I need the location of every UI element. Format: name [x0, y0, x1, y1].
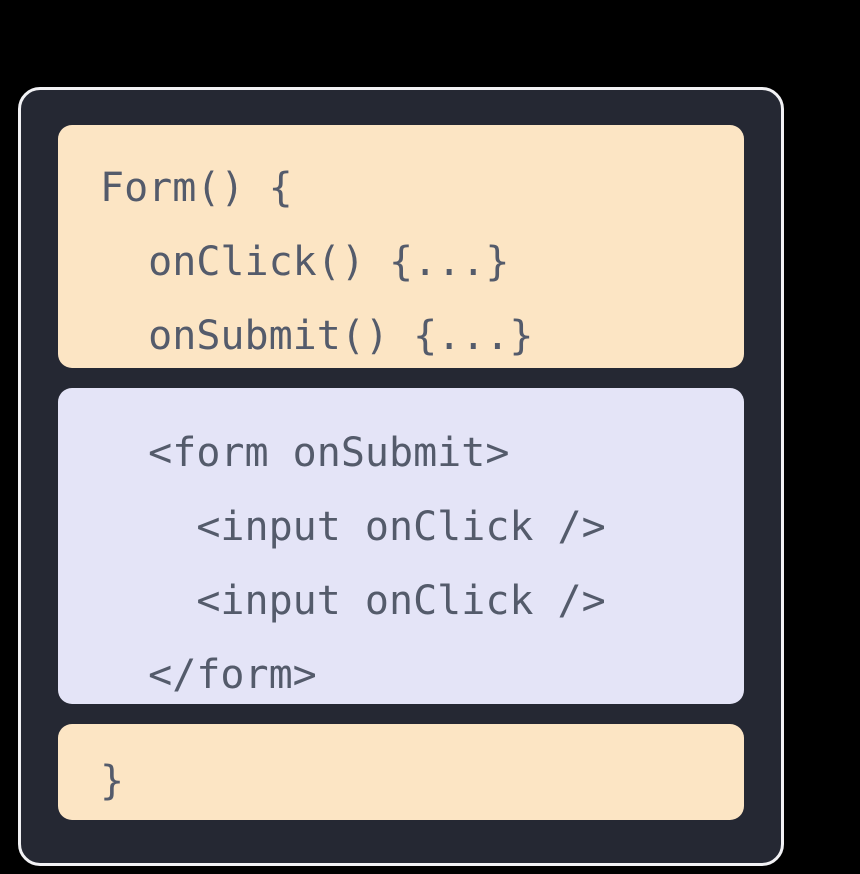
- diagram-canvas: Form() { onClick() {...} onSubmit() {...…: [0, 0, 860, 874]
- code-line: onClick() {...}: [58, 225, 744, 299]
- code-block-component-footer: }: [58, 724, 744, 820]
- code-block-component-header: Form() { onClick() {...} onSubmit() {...…: [58, 125, 744, 368]
- code-block-jsx-markup: <form onSubmit> <input onClick /> <input…: [58, 388, 744, 704]
- code-line: <input onClick />: [58, 564, 744, 638]
- code-line: onSubmit() {...}: [58, 299, 744, 368]
- code-line: <input onClick />: [58, 490, 744, 564]
- code-line: Form() {: [58, 151, 744, 225]
- code-line: </form>: [58, 638, 744, 704]
- code-line: <form onSubmit>: [58, 416, 744, 490]
- code-panel: Form() { onClick() {...} onSubmit() {...…: [18, 87, 784, 866]
- code-block-stack: Form() { onClick() {...} onSubmit() {...…: [58, 125, 744, 820]
- code-line: }: [58, 744, 744, 818]
